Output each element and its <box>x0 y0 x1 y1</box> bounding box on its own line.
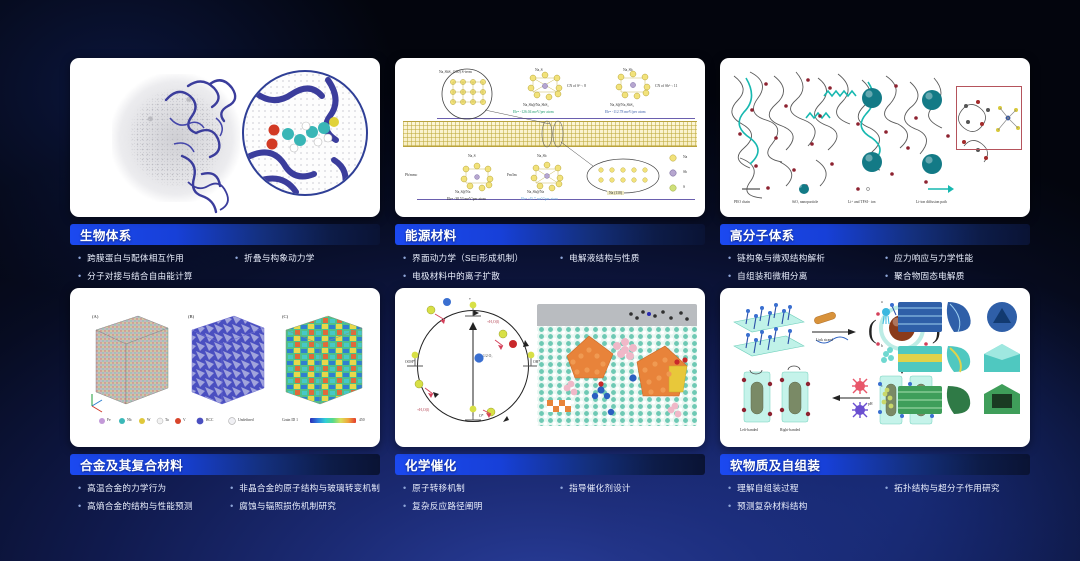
species-label: OOH* <box>405 360 415 364</box>
bullet-dot-icon: • <box>877 252 888 264</box>
bullet-dot-icon: • <box>395 482 406 494</box>
card-bullet-list: •理解自组装过程 •拓扑结构与超分子作用研究 •预测复杂材料结构 <box>720 482 1030 512</box>
list-item: •高温合金的力学行为 <box>70 482 218 494</box>
bullet-dot-icon: • <box>222 500 233 512</box>
membrane-protein-ligand-figure <box>70 58 380 217</box>
legend-label: Na <box>683 155 687 159</box>
card-title-bar: 生物体系 <box>70 224 380 245</box>
bullet-text: 自组装和微相分离 <box>737 270 807 282</box>
list-item: •非晶合金的原子结构与玻璃转变机制 <box>222 482 380 494</box>
bullet-dot-icon: • <box>70 482 81 494</box>
figure-label: Na₃Sb <box>537 154 546 158</box>
species-label: * <box>469 298 471 302</box>
figure-label: Na₂S <box>468 154 476 158</box>
sodium-sulfur-interface-figure: Na₂SbS₃ (100) S-term Na₂S Na₃Sb CN of S²… <box>395 58 705 217</box>
ligand-zoom-inset <box>242 70 368 196</box>
bullet-text: 电极材料中的离子扩散 <box>412 270 500 282</box>
card-bullet-list: •原子转移机制 •指导催化剂设计 •复杂反应路径阐明 <box>395 482 705 512</box>
figure-label: Fm3m <box>507 173 517 177</box>
list-item: •指导催化剂设计 <box>552 482 705 494</box>
bullet-dot-icon: • <box>877 270 888 282</box>
list-item: •界面动力学（SEI形成机制） <box>395 252 548 264</box>
bullet-dot-icon: • <box>227 252 238 264</box>
figure-label: Pb/mmc <box>405 173 417 177</box>
panel-label: (B) <box>188 314 194 319</box>
legend-label: Grain ID 1 <box>282 418 298 422</box>
legend-label: SiO₂ nanoparticle <box>792 200 818 204</box>
legend-label: Sb <box>683 170 687 174</box>
grain-id-colorbar <box>310 418 356 423</box>
bullet-text: 腐蚀与辐照损伤机制研究 <box>239 500 336 512</box>
legend-label: W <box>147 418 150 422</box>
bullet-text: 复杂反应路径阐明 <box>412 500 482 512</box>
card-title: 高分子体系 <box>730 225 795 244</box>
list-item: •电极材料中的离子扩散 <box>395 270 548 282</box>
bullet-text: 电解液结构与性质 <box>569 252 639 264</box>
legend-label: BCC <box>206 418 213 422</box>
row-label: c <box>881 384 883 388</box>
legend-label: Li⁺ and TFSI⁻ ion <box>848 200 876 204</box>
card-title-bar: 化学催化 <box>395 454 705 475</box>
bullet-text: 链构象与微观结构解析 <box>737 252 825 264</box>
bullet-text: 预测复杂材料结构 <box>737 500 807 512</box>
card-bullet-list: •界面动力学（SEI形成机制） •电解液结构与性质 •电极材料中的离子扩散 <box>395 252 705 282</box>
catalyst-surface-panel <box>537 304 697 426</box>
bullet-dot-icon: • <box>877 482 888 494</box>
bullet-dot-icon: • <box>395 500 406 512</box>
panel-label: (C) <box>282 314 288 319</box>
figure-label: Na (110) <box>607 191 624 195</box>
figure-label: Na₃Sb@Na <box>527 190 544 194</box>
bullet-dot-icon: • <box>222 482 233 494</box>
list-item: •电解液结构与性质 <box>552 252 705 264</box>
bullet-text: 跨膜蛋白与配体相互作用 <box>87 252 184 264</box>
list-item: •原子转移机制 <box>395 482 548 494</box>
figure-label: Link strand <box>816 338 833 342</box>
card-bullet-list: •跨膜蛋白与配体相互作用 •折叠与构象动力学 •分子对接与结合自由能计算 <box>70 252 380 282</box>
reagent-label: +H₂O(l) <box>417 408 429 412</box>
legend-label: Ta <box>165 418 169 422</box>
legend-label: Nb <box>127 418 132 422</box>
figure-label: CN of Sb³⁻: 11 <box>655 84 677 88</box>
bullet-text: 分子对接与结合自由能计算 <box>87 270 193 282</box>
card-title-bar: 软物质及自组装 <box>720 454 1030 475</box>
legend-label: Fe <box>107 418 111 422</box>
bullet-dot-icon: • <box>720 252 731 264</box>
bullet-text: 原子转移机制 <box>412 482 465 494</box>
legend-label: Undefined <box>238 418 254 422</box>
card-title: 合金及其复合材料 <box>80 455 183 474</box>
bullet-dot-icon: • <box>720 270 731 282</box>
bullet-dot-icon: • <box>720 500 731 512</box>
reagent-label: 1/2 O₂ <box>483 354 493 358</box>
card-grid: 生物体系 •跨膜蛋白与配体相互作用 •折叠与构象动力学 •分子对接与结合自由能计… <box>0 0 1080 512</box>
list-item: •复杂反应路径阐明 <box>395 500 548 512</box>
list-item: •链构象与微观结构解析 <box>720 252 873 264</box>
card-bullet-list: •链构象与微观结构解析 •应力响应与力学性能 •自组装和微相分离 •聚合物固态电… <box>720 252 1030 282</box>
list-item: •折叠与构象动力学 <box>227 252 380 264</box>
bullet-dot-icon: • <box>70 500 81 512</box>
bullet-dot-icon: • <box>70 270 81 282</box>
figure-label: Na₃Sb <box>623 68 632 72</box>
panel-label: (A) <box>92 314 98 319</box>
list-item: •应力响应与力学性能 <box>877 252 1030 264</box>
legend-label: 450 <box>359 418 365 422</box>
card-title: 软物质及自组装 <box>730 455 820 474</box>
species-label: O* <box>479 414 484 418</box>
list-item: •理解自组装过程 <box>720 482 873 494</box>
svg-text:(: ( <box>868 315 877 344</box>
bullet-text: 非晶合金的原子结构与玻璃转变机制 <box>239 482 380 494</box>
bullet-text: 拓扑结构与超分子作用研究 <box>894 482 1000 494</box>
legend-label: Li-ion diffusion path <box>916 200 947 204</box>
bullet-text: 高温合金的力学行为 <box>87 482 166 494</box>
figure-label: Eb= -126.04 meV/per atom <box>513 110 554 114</box>
bullet-text: 指导催化剂设计 <box>569 482 631 494</box>
list-item: •聚合物固态电解质 <box>877 270 1030 282</box>
card-title-bar: 合金及其复合材料 <box>70 454 380 475</box>
card-polymer-systems[interactable]: PEO chain SiO₂ nanoparticle Li⁺ and TFSI… <box>720 58 1030 282</box>
figure-label: pH <box>868 402 873 406</box>
bullet-text: 高熵合金的结构与性能预测 <box>87 500 193 512</box>
chiral-self-assembly-figure: ( ) <box>720 288 1030 447</box>
legend-label: S <box>683 185 685 189</box>
card-title-bar: 高分子体系 <box>720 224 1030 245</box>
figure-label: CN of S²⁻: 8 <box>567 84 586 88</box>
bullet-dot-icon: • <box>70 252 81 264</box>
figure-label: Eb= -45.7 meV/per atom <box>521 197 558 201</box>
card-title: 生物体系 <box>80 225 132 244</box>
list-item: •分子对接与结合自由能计算 <box>70 270 223 282</box>
polycrystalline-hea-cubes-figure: (A) (B) (C) Fe Nb W Ta V BCC Undefined G… <box>70 288 380 447</box>
species-label: OH* <box>533 360 540 364</box>
bullet-dot-icon: • <box>552 482 563 494</box>
card-energy-materials[interactable]: Na₂SbS₃ (100) S-term Na₂S Na₃Sb CN of S²… <box>395 58 705 282</box>
figure-label: Left-handed <box>740 428 758 432</box>
bullet-dot-icon: • <box>552 252 563 264</box>
card-title: 化学催化 <box>405 455 457 474</box>
figure-label: Eb= -112.78 meV/per atom <box>605 110 645 114</box>
bullet-dot-icon: • <box>395 270 406 282</box>
list-item: •拓扑结构与超分子作用研究 <box>877 482 1030 494</box>
figure-label: Na₂S@Na <box>455 190 470 194</box>
peo-nanocomposite-electrolyte-figure: PEO chain SiO₂ nanoparticle Li⁺ and TFSI… <box>720 58 1030 217</box>
bullet-text: 折叠与构象动力学 <box>244 252 314 264</box>
card-chemical-catalysis[interactable]: OOH* OH* O* * +H₂O(l) +H₂O(l) 1/2 O₂ 化学催… <box>395 288 705 512</box>
oer-catalytic-cycle-figure: OOH* OH* O* * +H₂O(l) +H₂O(l) 1/2 O₂ <box>395 288 705 447</box>
figure-label: Right-handed <box>780 428 800 432</box>
bullet-text: 应力响应与力学性能 <box>894 252 973 264</box>
legend-label: PEO chain <box>734 200 750 204</box>
card-bullet-list: •高温合金的力学行为 •非晶合金的原子结构与玻璃转变机制 •高熵合金的结构与性能… <box>70 482 380 512</box>
card-soft-matter-self-assembly[interactable]: ( ) <box>720 288 1030 512</box>
figure-label: Na₂SbS₃ (100) S-term <box>439 70 472 74</box>
card-biological-systems[interactable]: 生物体系 •跨膜蛋白与配体相互作用 •折叠与构象动力学 •分子对接与结合自由能计… <box>70 58 380 282</box>
figure-label: Na₂S <box>535 68 543 72</box>
card-alloys-and-composites[interactable]: (A) (B) (C) Fe Nb W Ta V BCC Undefined G… <box>70 288 380 512</box>
bullet-text: 聚合物固态电解质 <box>894 270 964 282</box>
row-label: b <box>881 344 883 348</box>
bullet-text: 界面动力学（SEI形成机制） <box>412 252 523 264</box>
card-title-bar: 能源材料 <box>395 224 705 245</box>
list-item: •自组装和微相分离 <box>720 270 873 282</box>
figure-label: Na₃Sb@Na₃SbS₄ <box>523 103 549 107</box>
reagent-label: +H₂O(l) <box>487 320 499 324</box>
list-item: •预测复杂材料结构 <box>720 500 873 512</box>
figure-label: Eb= -38.53 meV/per atom <box>447 197 486 201</box>
row-label: a <box>881 300 883 304</box>
card-title: 能源材料 <box>405 225 457 244</box>
bullet-dot-icon: • <box>720 482 731 494</box>
list-item: •跨膜蛋白与配体相互作用 <box>70 252 223 264</box>
bullet-text: 理解自组装过程 <box>737 482 799 494</box>
list-item: •高熵合金的结构与性能预测 <box>70 500 218 512</box>
list-item: •腐蚀与辐照损伤机制研究 <box>222 500 380 512</box>
figure-label: Na₂S@Na₃SbS₄ <box>610 103 634 107</box>
legend-label: V <box>183 418 186 422</box>
bullet-dot-icon: • <box>395 252 406 264</box>
